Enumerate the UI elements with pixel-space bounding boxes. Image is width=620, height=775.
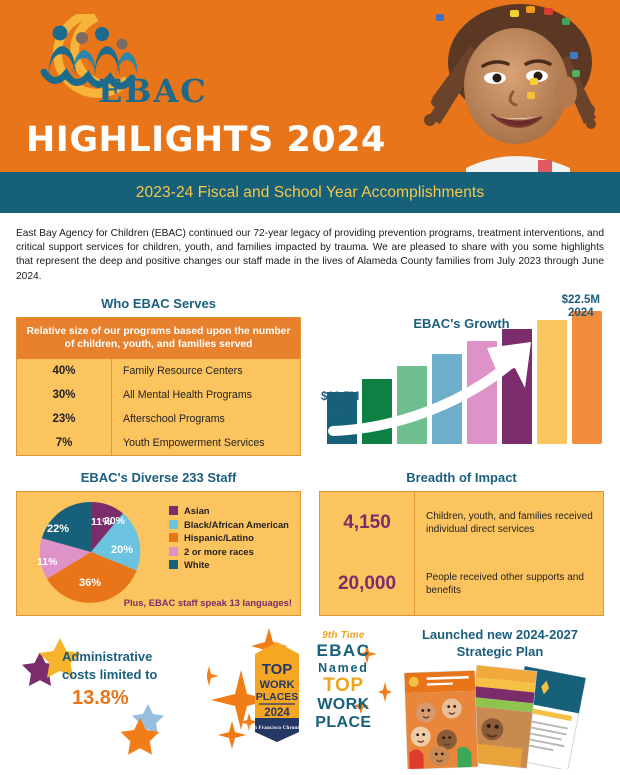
- award-work: WORK: [295, 696, 391, 714]
- who-serves-label-column: Family Resource Centers All Mental Healt…: [112, 359, 300, 455]
- bar-2024: [572, 311, 602, 444]
- table-row: 40%: [17, 359, 111, 383]
- impact-number: 4,150: [320, 492, 414, 554]
- impact-description: Children, youth, and families received i…: [415, 492, 603, 554]
- staff-pie-panel: 20% x y 11% 20% 36% 11% 22% Asian Blac: [16, 491, 301, 616]
- table-row: 7%: [17, 431, 111, 455]
- who-serves-table: Relative size of our programs based upon…: [16, 317, 301, 456]
- table-row: 23%: [17, 407, 111, 431]
- award-ninth-time: 9th Time: [295, 630, 391, 641]
- legend-item-black: Black/African American: [169, 517, 289, 531]
- award-ebac: EBAC: [295, 641, 391, 661]
- subtitle-text: 2023-24 Fiscal and School Year Accomplis…: [136, 184, 484, 202]
- staff-languages-note: Plus, EBAC staff speak 13 languages!: [124, 597, 292, 608]
- table-row: All Mental Health Programs: [112, 383, 300, 407]
- badge-work-text: WORK: [260, 679, 295, 691]
- impact-number: 20,000: [320, 553, 414, 615]
- impact-panel: 4,150 20,000 Children, youth, and famili…: [319, 491, 604, 616]
- page-header: EBAC HIGHLIGHTS 2024: [0, 0, 620, 172]
- growth-start-label: $12.7M 2017: [321, 391, 359, 418]
- table-row: Family Resource Centers: [112, 359, 300, 383]
- award-place: PLACE: [295, 714, 391, 732]
- logo-wordmark: EBAC: [98, 72, 208, 106]
- legend-swatch-icon: [169, 506, 178, 515]
- who-serves-percent-column: 40% 30% 23% 7%: [17, 359, 112, 455]
- legend-swatch-icon: [169, 533, 178, 542]
- impact-title: Breadth of Impact: [319, 470, 604, 485]
- table-row: Youth Empowerment Services: [112, 431, 300, 455]
- header-photo: [370, 0, 620, 172]
- bar-2019: [397, 366, 427, 444]
- legend-swatch-icon: [169, 520, 178, 529]
- section-row-two: EBAC's Diverse 233 Staff 20% x y: [0, 470, 620, 616]
- legend-item-white: White: [169, 558, 289, 572]
- impact-description: People received other supports and benef…: [415, 553, 603, 615]
- staff-pie-chart: 20% x y: [25, 498, 165, 611]
- bar-2023: [537, 320, 567, 444]
- admin-costs-percent: 13.8%: [72, 687, 129, 710]
- legend-item-hispanic: Hispanic/Latino: [169, 531, 289, 545]
- section-row-one: Who EBAC Serves Relative size of our pro…: [0, 296, 620, 456]
- who-ebac-serves-section: Who EBAC Serves Relative size of our pro…: [16, 296, 301, 456]
- admin-costs-label: Administrative costs limited to: [62, 648, 157, 684]
- table-row: Afterschool Programs: [112, 407, 300, 431]
- administrative-costs-section: Administrative costs limited to 13.8%: [10, 624, 207, 761]
- growth-end-label: $22.5M 2024: [562, 294, 600, 321]
- badge-top-text: TOP: [262, 661, 293, 678]
- intro-paragraph: East Bay Agency for Children (EBAC) cont…: [0, 213, 620, 284]
- top-workplace-award-section: TOP WORK PLACES 2024 San Francisco Chron…: [207, 624, 390, 761]
- subtitle-banner: 2023-24 Fiscal and School Year Accomplis…: [0, 172, 620, 213]
- legend-item-asian: Asian: [169, 504, 289, 518]
- section-row-three: Administrative costs limited to 13.8% TO…: [0, 616, 620, 761]
- badge-year-text: 2024: [265, 707, 291, 719]
- award-named: Named: [295, 661, 391, 676]
- legend-swatch-icon: [169, 560, 178, 569]
- breadth-of-impact-section: Breadth of Impact 4,150 20,000 Children,…: [319, 470, 604, 616]
- legend-swatch-icon: [169, 547, 178, 556]
- bar-2018: [362, 379, 392, 444]
- who-serves-table-header: Relative size of our programs based upon…: [17, 318, 300, 359]
- strategic-plan-brochures: [390, 664, 610, 769]
- table-row: 30%: [17, 383, 111, 407]
- strategic-plan-title: Launched new 2024-2027 Strategic Plan: [390, 624, 610, 660]
- ebac-logo: EBAC: [30, 14, 210, 106]
- ebac-growth-section: EBAC's Growth $12.7M 2017: [319, 296, 604, 456]
- award-caption: 9th Time EBAC Named TOP WORK PLACE: [295, 630, 391, 732]
- page-title: HIGHLIGHTS 2024: [26, 120, 386, 160]
- award-top: TOP: [295, 676, 391, 696]
- strategic-plan-section: Launched new 2024-2027 Strategic Plan: [390, 624, 610, 761]
- legend-item-two-or-more: 2 or more races: [169, 545, 289, 559]
- who-serves-title: Who EBAC Serves: [16, 296, 301, 311]
- pie-legend: Asian Black/African American Hispanic/La…: [169, 504, 289, 572]
- badge-places-text: PLACES: [256, 691, 299, 703]
- staff-title: EBAC's Diverse 233 Staff: [16, 470, 301, 485]
- staff-diversity-section: EBAC's Diverse 233 Staff 20% x y: [16, 470, 301, 616]
